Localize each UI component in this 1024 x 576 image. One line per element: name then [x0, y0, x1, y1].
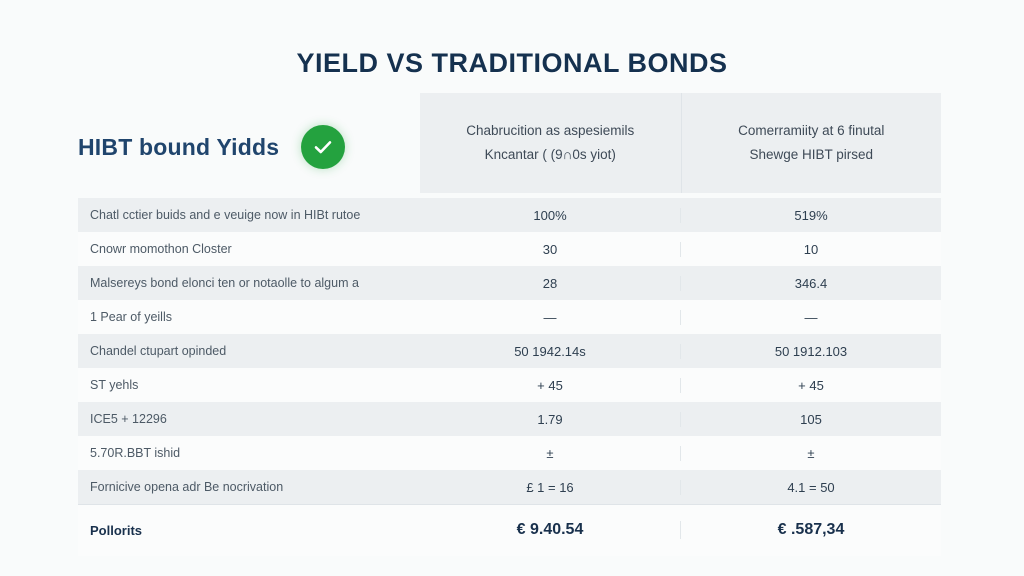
table-row-value-col2: 519% [680, 208, 941, 223]
left-heading-label: HIBT bound Yidds [78, 134, 279, 161]
table-row: Malsereys bond elonci ten or notaolle to… [78, 266, 941, 300]
table-row-value-col1: 28 [420, 276, 680, 291]
table-row-label: 5.70R.BBT ishid [78, 446, 420, 460]
table-row-value-col2: 346.4 [680, 276, 941, 291]
column-header-2-line2: Shewge HIBT pirsed [749, 147, 873, 164]
table-row-value-col1: 30 [420, 242, 680, 257]
table-row-label: 1 Pear of yeills [78, 310, 420, 324]
table-row-label: Chandel ctupart opinded [78, 344, 420, 358]
table-row-label: Chatl cctier buids and e veuige now in H… [78, 208, 420, 222]
table-row: Chatl cctier buids and e veuige now in H… [78, 198, 941, 232]
table-row-value-col1: 1.79 [420, 412, 680, 427]
table-row-value-col1: 100% [420, 208, 680, 223]
table-row-label: ICE5 + 12296 [78, 412, 420, 426]
page-title: YIELD VS TRADITIONAL BONDS [0, 48, 1024, 79]
comparison-table: Chatl cctier buids and e veuige now in H… [78, 198, 941, 556]
total-row-divider [78, 504, 941, 505]
table-row-value-col1: £ 1 = 16 [420, 480, 680, 495]
table-rows: Chatl cctier buids and e veuige now in H… [78, 198, 941, 504]
table-row-value-col2: 4.1 = 50 [680, 480, 941, 495]
table-row-value-col1: ± [420, 446, 680, 461]
total-row-value-col1: € 9.40.54 [420, 521, 680, 539]
left-heading-block: HIBT bound Yidds [78, 125, 345, 169]
table-column-headers: Chabrucition as aspesiemils Kncantar ( (… [420, 93, 941, 193]
table-row: ICE5 + 122961.79105 [78, 402, 941, 436]
table-row-value-col2: 105 [680, 412, 941, 427]
table-row-label: ST yehls [78, 378, 420, 392]
column-header-1: Chabrucition as aspesiemils Kncantar ( (… [420, 93, 681, 193]
column-header-1-line2: Kncantar ( (9∩0s yiot) [485, 147, 616, 164]
table-row-value-col2: — [680, 310, 941, 325]
table-row: Cnowr momothon Closter3010 [78, 232, 941, 266]
table-row-value-col2: ± [680, 446, 941, 461]
total-row-label: Pollorits [78, 523, 420, 538]
table-total-row: Pollorits € 9.40.54 € .587,34 [78, 504, 941, 556]
table-row: Chandel ctupart opinded50 1942.14s50 191… [78, 334, 941, 368]
column-header-2-line1: Comerramiity at 6 finutal [738, 123, 884, 140]
table-row-value-col1: + 45 [420, 378, 680, 393]
total-row-value-col2: € .587,34 [680, 521, 941, 539]
column-header-1-line1: Chabrucition as aspesiemils [466, 123, 634, 140]
table-row-value-col2: + 45 [680, 378, 941, 393]
column-header-2: Comerramiity at 6 finutal Shewge HIBT pi… [681, 93, 942, 193]
table-row: 1 Pear of yeills—— [78, 300, 941, 334]
table-row-label: Cnowr momothon Closter [78, 242, 420, 256]
table-row-value-col1: 50 1942.14s [420, 344, 680, 359]
check-circle-icon [301, 125, 345, 169]
table-row-label: Fornicive opena adr Be nocrivation [78, 480, 420, 494]
table-row-value-col2: 50 1912.103 [680, 344, 941, 359]
table-row-value-col2: 10 [680, 242, 941, 257]
table-row-label: Malsereys bond elonci ten or notaolle to… [78, 276, 420, 290]
table-row: 5.70R.BBT ishid±± [78, 436, 941, 470]
table-row: ST yehls+ 45+ 45 [78, 368, 941, 402]
table-row: Fornicive opena adr Be nocrivation£ 1 = … [78, 470, 941, 504]
table-row-value-col1: — [420, 310, 680, 325]
